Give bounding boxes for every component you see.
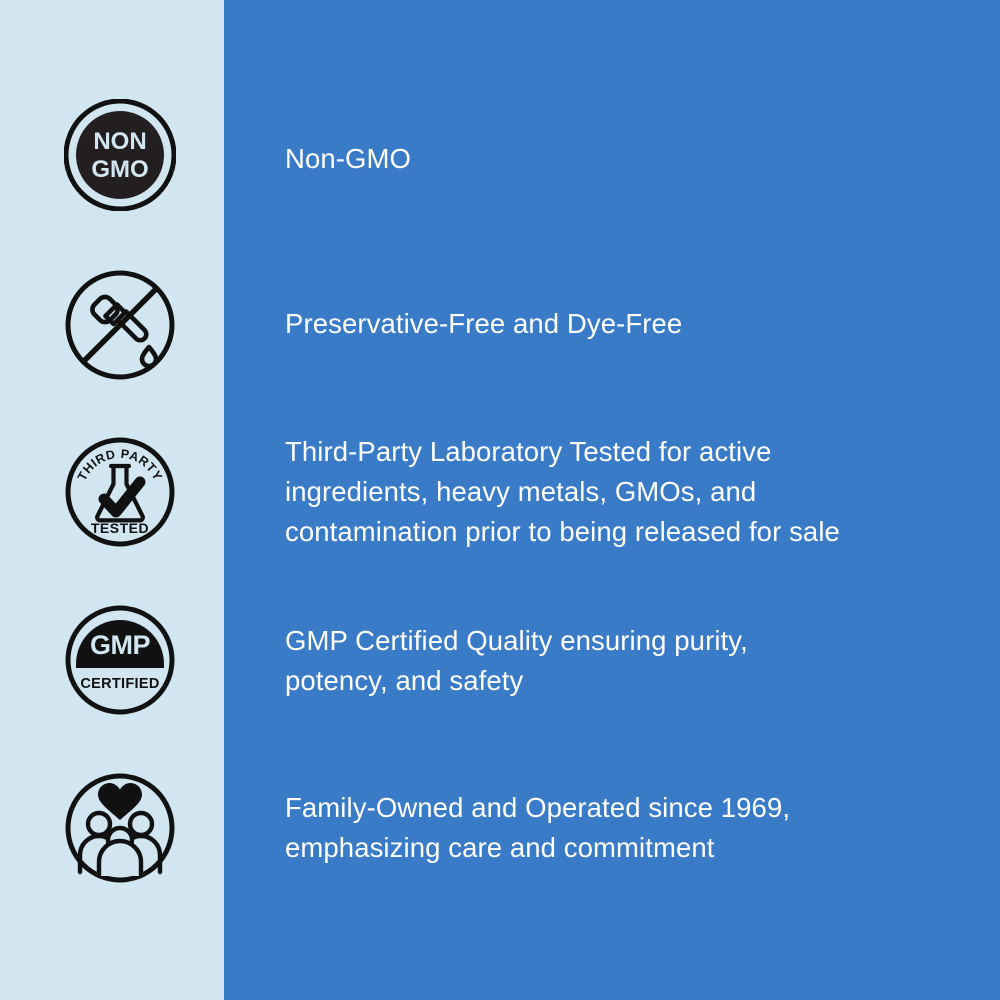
tested-label: TESTED [91,520,149,536]
content-panel: Non-GMO Preservative-Free and Dye-Free T… [224,0,1000,1000]
gmp-certified-icon: GMP CERTIFIED [64,604,176,716]
feature-label-family-owned: Family-Owned and Operated since 1969, em… [285,788,985,868]
feature-label-preservative-free: Preservative-Free and Dye-Free [285,304,985,344]
non-gmo-line-2: GMO [91,156,148,183]
certified-label: CERTIFIED [80,676,159,692]
no-dropper-icon [64,269,176,381]
gmp-label: GMP [90,630,150,660]
product-trust-badges-page: NON GMO [0,0,1000,1000]
feature-label-third-party-tested: Third-Party Laboratory Tested for active… [285,432,985,552]
third-party-tested-icon: THIRD PARTY TESTED [64,436,176,548]
feature-label-gmp-certified: GMP Certified Quality ensuring purity, p… [285,621,985,701]
non-gmo-line-1: NON [93,128,146,155]
family-owned-icon [64,772,176,884]
icon-rail: NON GMO [0,0,224,1000]
non-gmo-badge-icon: NON GMO [64,99,176,211]
feature-label-non-gmo: Non-GMO [285,139,985,179]
